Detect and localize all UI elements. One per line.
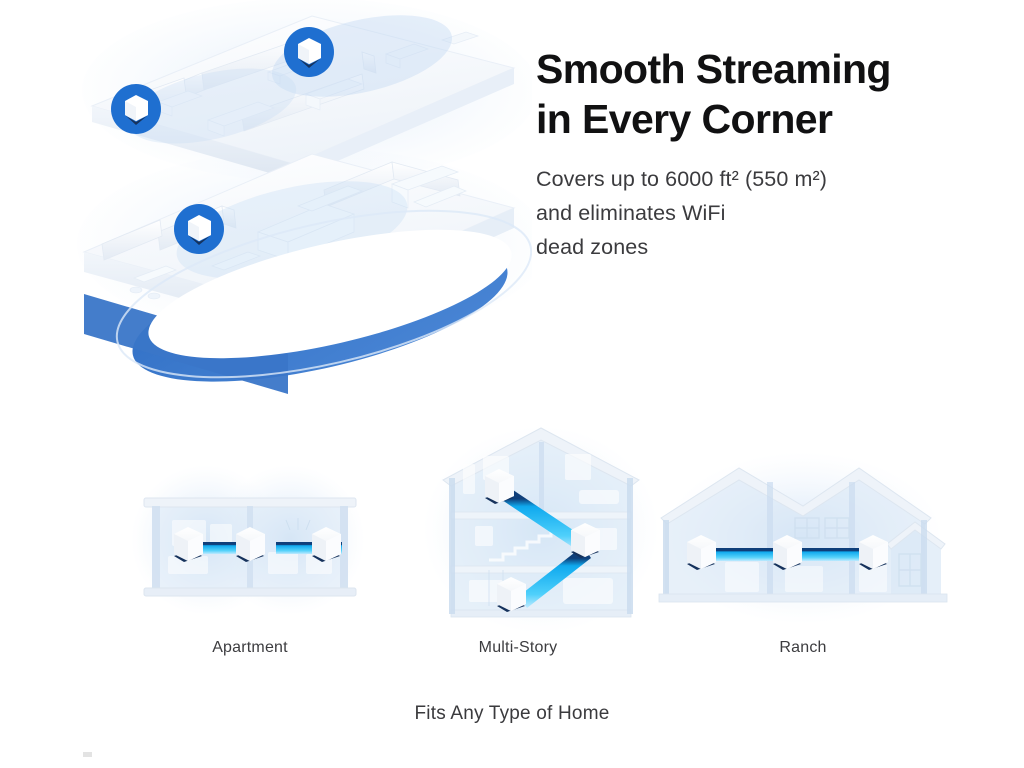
- mesh-unit-3: [312, 527, 341, 562]
- mesh-badge-3[interactable]: [174, 204, 224, 254]
- page-title: Smooth Streaming in Every Corner: [536, 44, 966, 144]
- home-type-multi-story: [393, 420, 693, 670]
- mesh-badge-1[interactable]: [284, 27, 334, 77]
- mesh-badge-2[interactable]: [111, 84, 161, 134]
- mesh-unit-1: [174, 527, 203, 562]
- label-multi-story: Multi-Story: [368, 639, 668, 657]
- home-types-row: [0, 420, 1024, 670]
- floorplan-illustration: [62, 0, 532, 414]
- promo-page: Smooth Streaming in Every Corner Covers …: [0, 0, 1024, 768]
- label-apartment: Apartment: [100, 639, 400, 657]
- mesh-unit-middle: [571, 523, 600, 558]
- label-ranch: Ranch: [653, 639, 953, 657]
- hero-subtitle: Covers up to 6000 ft² (550 m²) and elimi…: [536, 144, 966, 264]
- mesh-unit-bottom: [497, 577, 526, 612]
- hero-text-block: Smooth Streaming in Every Corner Covers …: [536, 44, 966, 264]
- home-type-apartment: [100, 420, 400, 670]
- mesh-unit-1: [687, 535, 716, 570]
- footer-caption: Fits Any Type of Home: [0, 703, 1024, 725]
- mesh-unit-2: [773, 535, 802, 570]
- corner-artifact-mark: [83, 752, 92, 757]
- mesh-unit-3: [859, 535, 888, 570]
- mesh-unit-2: [236, 527, 265, 562]
- home-type-ranch: [653, 420, 953, 670]
- mesh-unit-top: [485, 469, 514, 504]
